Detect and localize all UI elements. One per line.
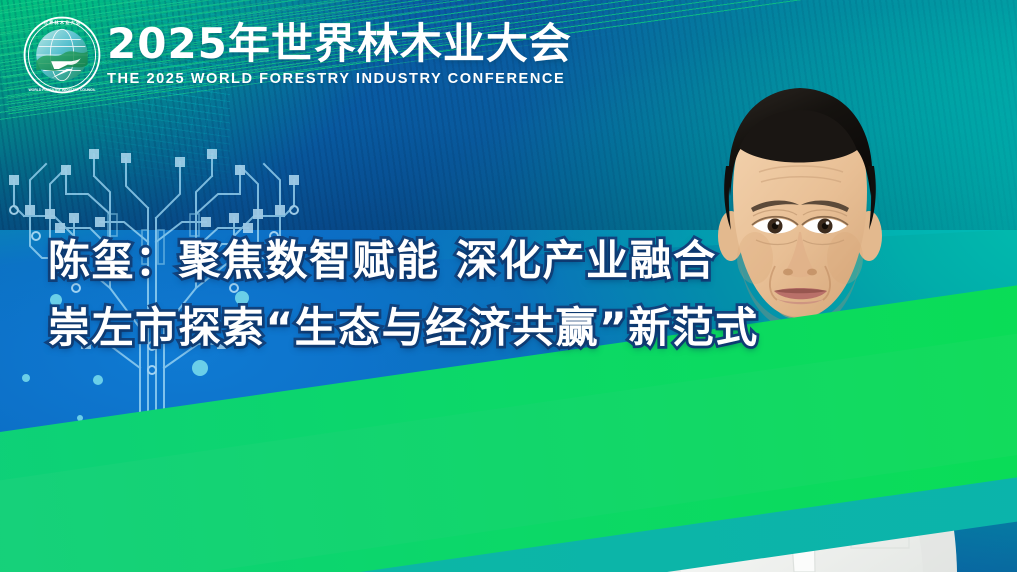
headline-line-2: 崇左市探索“生态与经济共赢”新范式 — [48, 300, 759, 355]
conference-title-en: THE 2025 WORLD FORESTRY INDUSTRY CONFERE… — [107, 71, 572, 87]
conference-logo-icon: 世 界 林 木 业 大 会 WORLD FORESTRY INDUSTRY CO… — [23, 16, 101, 94]
headline-line-1: 陈玺：聚焦数智赋能 深化产业融合 — [48, 233, 759, 288]
headline-block: 陈玺：聚焦数智赋能 深化产业融合 崇左市探索“生态与经济共赢”新范式 — [48, 233, 759, 356]
conference-title-cn: 2025年世界林木业大会 — [107, 23, 572, 66]
svg-text:世 界 林 木 业 大 会: 世 界 林 木 业 大 会 — [44, 19, 81, 26]
conference-header: 世 界 林 木 业 大 会 WORLD FORESTRY INDUSTRY CO… — [0, 0, 572, 110]
svg-text:WORLD FORESTRY INDUSTRY COUNCI: WORLD FORESTRY INDUSTRY COUNCIL — [28, 88, 95, 92]
conference-banner: 世 界 林 木 业 大 会 WORLD FORESTRY INDUSTRY CO… — [0, 0, 1017, 572]
